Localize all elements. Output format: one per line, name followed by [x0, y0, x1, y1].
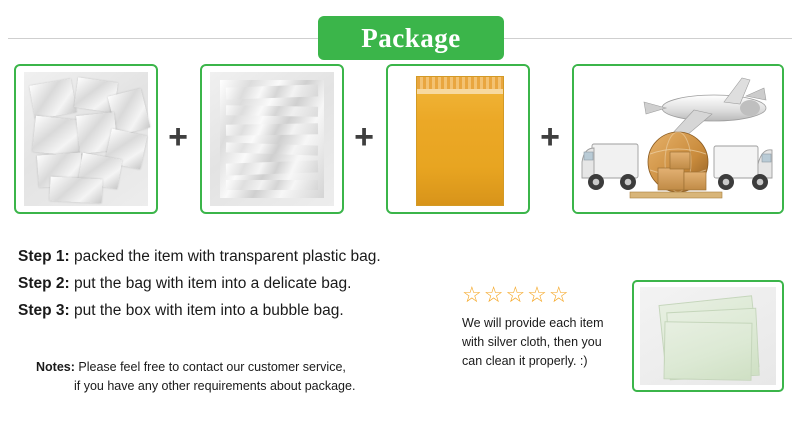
page-title: Package: [361, 23, 460, 54]
notes-block: Notes: Please feel free to contact our c…: [36, 358, 456, 396]
bag-piece: [49, 177, 102, 204]
steps-text-block: Step 1: packed the item with transparent…: [18, 248, 468, 329]
promise-text-block: We will provide each item with silver cl…: [462, 314, 642, 371]
step-text-3: put the box with item into a bubble bag.: [74, 302, 344, 319]
step-line-2: Step 2: put the bag with item into a del…: [18, 275, 468, 293]
silver-bag-fold: [226, 123, 318, 136]
page-title-badge: Package: [318, 16, 504, 60]
step-line-1: Step 1: packed the item with transparent…: [18, 248, 468, 266]
silver-cloth-photo: ▢▢▢▢▢▢▢▢▢▢▢▢▢▢▢▢▢▢▢▢: [632, 280, 784, 392]
packaging-steps-row: + + +: [0, 64, 800, 232]
silver-bag-fold: [226, 105, 318, 117]
notes-line-2: if you have any other requirements about…: [36, 377, 456, 396]
promise-line-2: with silver cloth, then you: [462, 333, 642, 352]
step-text-1: packed the item with transparent plastic…: [74, 248, 381, 265]
plus-sign-2: +: [349, 120, 379, 154]
notes-label: Notes:: [36, 360, 75, 374]
notes-line-1: Please feel free to contact our customer…: [78, 360, 346, 374]
header: Package: [0, 16, 800, 60]
step-line-3: Step 3: put the box with item into a bub…: [18, 302, 468, 320]
step-label-2: Step 2:: [18, 275, 70, 292]
package-info-graphic: Package +: [0, 0, 800, 436]
step-label-1: Step 1:: [18, 248, 70, 265]
yellow-bubble-mailer-photo: [386, 64, 530, 214]
promise-line-1: We will provide each item: [462, 314, 642, 333]
logistics-art: [574, 66, 782, 212]
delicate-silver-bag-photo: [200, 64, 344, 214]
plus-sign-1: +: [163, 120, 193, 154]
logistics-illustration: [574, 66, 782, 212]
shipping-logistics-photo: [572, 64, 784, 214]
plastic-bags-art: [16, 66, 156, 212]
transparent-plastic-bags-photo: [14, 64, 158, 214]
promise-line-3: can clean it properly. :): [462, 352, 642, 371]
step-text-2: put the bag with item into a delicate ba…: [74, 275, 351, 292]
bubble-mailer-art: [388, 66, 528, 212]
bag-piece: [29, 79, 76, 120]
silver-bag-fold: [226, 180, 318, 190]
plus-sign-3: +: [535, 120, 565, 154]
star-rating-icons: ☆☆☆☆☆: [462, 283, 592, 309]
silver-bag-art: [202, 66, 342, 212]
mailer-adhesive-strip: [417, 89, 503, 94]
bubble-mailer-envelope: [416, 76, 504, 206]
bag-piece: [32, 116, 82, 157]
cloth-sheet-front: [664, 321, 753, 381]
step-label-3: Step 3:: [18, 302, 70, 319]
